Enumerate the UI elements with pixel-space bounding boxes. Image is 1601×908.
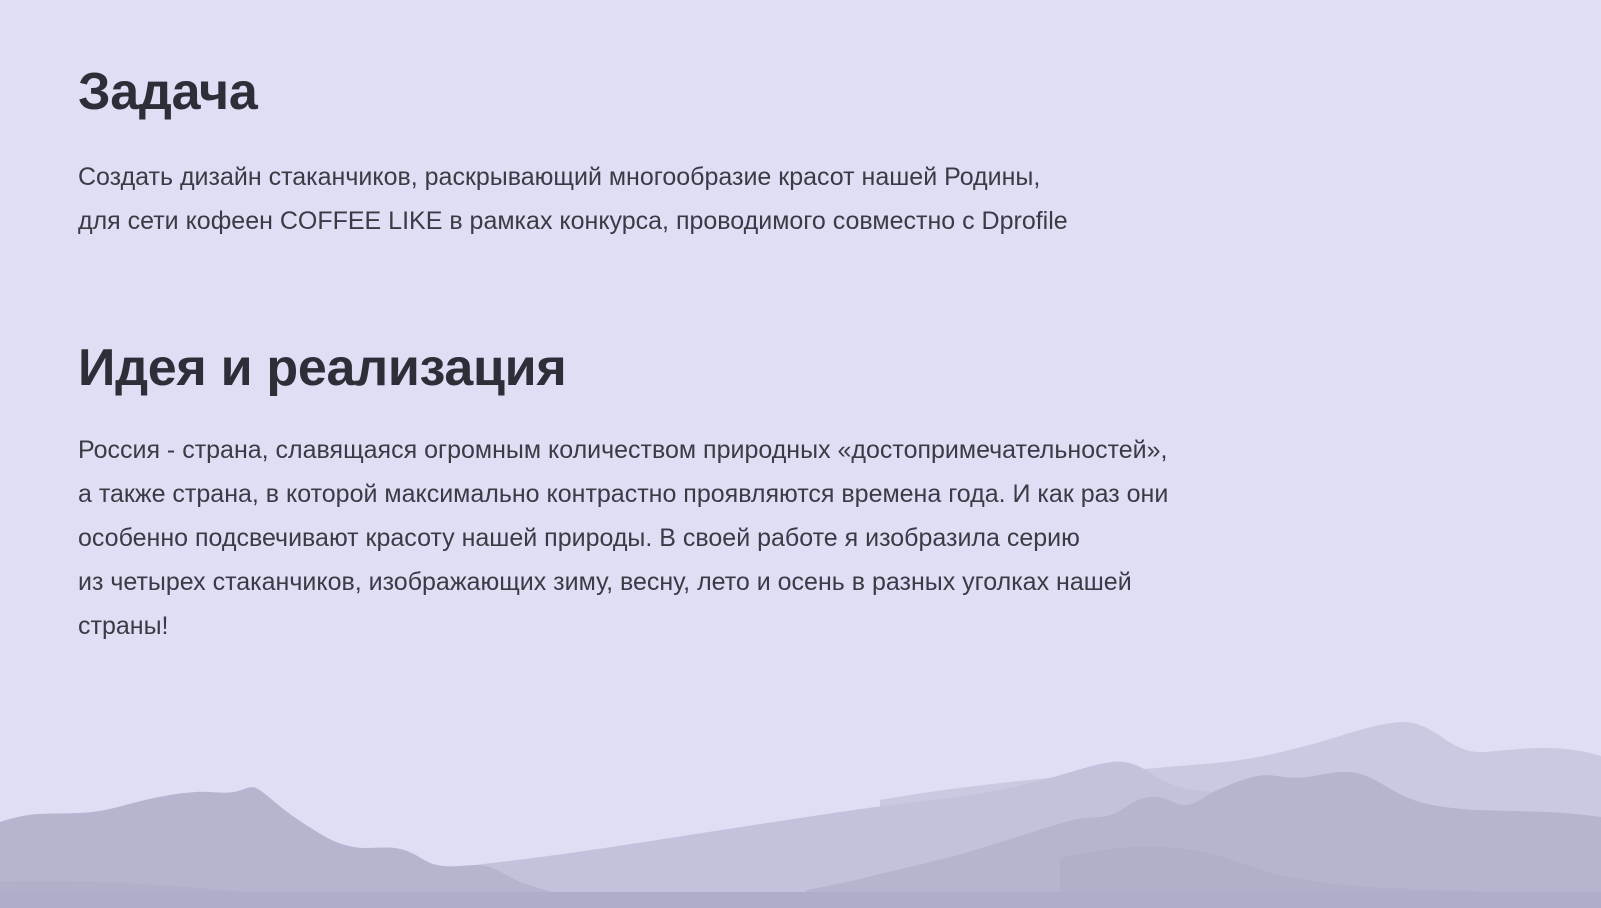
body-line: Россия - страна, славящаяся огромным кол… — [78, 428, 1168, 472]
body-line: Создать дизайн стаканчиков, раскрывающий… — [78, 155, 1068, 199]
section-task: Задача Создать дизайн стаканчиков, раскр… — [78, 62, 1068, 243]
body-line: страны! — [78, 604, 1168, 648]
far-ridge-left-shape — [0, 863, 186, 908]
body-line: особенно подсвечивают красоту нашей прир… — [78, 516, 1168, 560]
right-mountain-shape — [806, 772, 1601, 908]
near-ridge-slope-shape — [520, 882, 950, 908]
near-ridge-shape — [0, 787, 606, 908]
body-line: из четырех стаканчиков, изображающих зим… — [78, 560, 1168, 604]
foreground-slope-shape — [0, 881, 402, 908]
section-task-heading: Задача — [78, 62, 1068, 123]
mid-ridge-shape — [300, 762, 1601, 908]
valley-fold-shape — [1060, 847, 1601, 908]
mountain-landscape-illustration — [0, 678, 1601, 908]
body-line: а также страна, в которой максимально ко… — [78, 472, 1168, 516]
section-idea-heading: Идея и реализация — [78, 338, 1168, 399]
page-root: Задача Создать дизайн стаканчиков, раскр… — [0, 0, 1601, 908]
ground-strip-shape — [0, 892, 1601, 908]
far-ridge-shape — [880, 722, 1601, 908]
section-task-body: Создать дизайн стаканчиков, раскрывающий… — [78, 155, 1068, 243]
section-idea: Идея и реализация Россия - страна, славя… — [78, 338, 1168, 648]
scenery-svg — [0, 678, 1601, 908]
section-idea-body: Россия - страна, славящаяся огромным кол… — [78, 428, 1168, 648]
body-line: для сети кофеен COFFEE LIKE в рамках кон… — [78, 199, 1068, 243]
